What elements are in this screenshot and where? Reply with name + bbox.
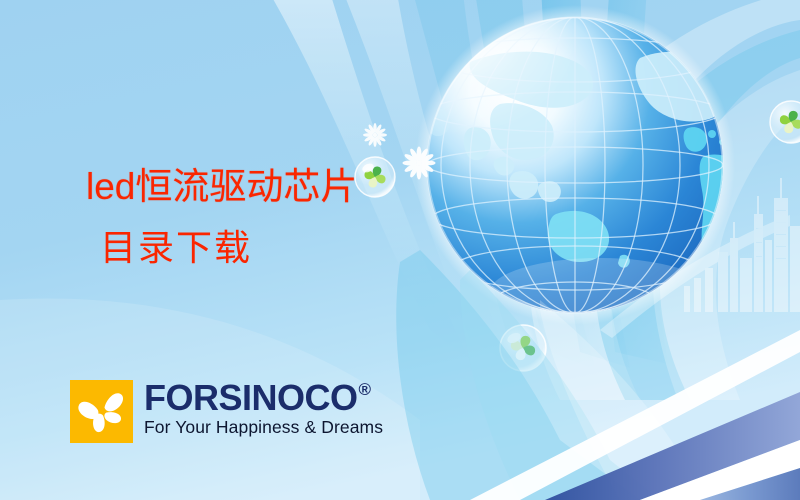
- headline-line-2: 目录下载: [100, 226, 357, 272]
- promotional-banner: led恒流驱动芯片 目录下载 FORSINOCO ®: [0, 0, 800, 500]
- bubble-pinwheel-left: [355, 157, 395, 197]
- registered-trademark-icon: ®: [359, 381, 371, 398]
- logo-text-block: FORSINOCO ® For Your Happiness & Dreams: [144, 380, 383, 438]
- logo-mark-tile: [70, 380, 133, 443]
- headline-text: led恒流驱动芯片 目录下载: [86, 163, 357, 272]
- company-logo: FORSINOCO ® For Your Happiness & Dreams: [70, 380, 383, 443]
- logo-wordmark-text: FORSINOCO: [144, 380, 358, 415]
- headline-line-1: led恒流驱动芯片: [86, 163, 357, 210]
- logo-tagline: For Your Happiness & Dreams: [144, 417, 383, 438]
- logo-wordmark: FORSINOCO ®: [144, 380, 371, 415]
- pinwheel-flower-icon: [70, 380, 133, 443]
